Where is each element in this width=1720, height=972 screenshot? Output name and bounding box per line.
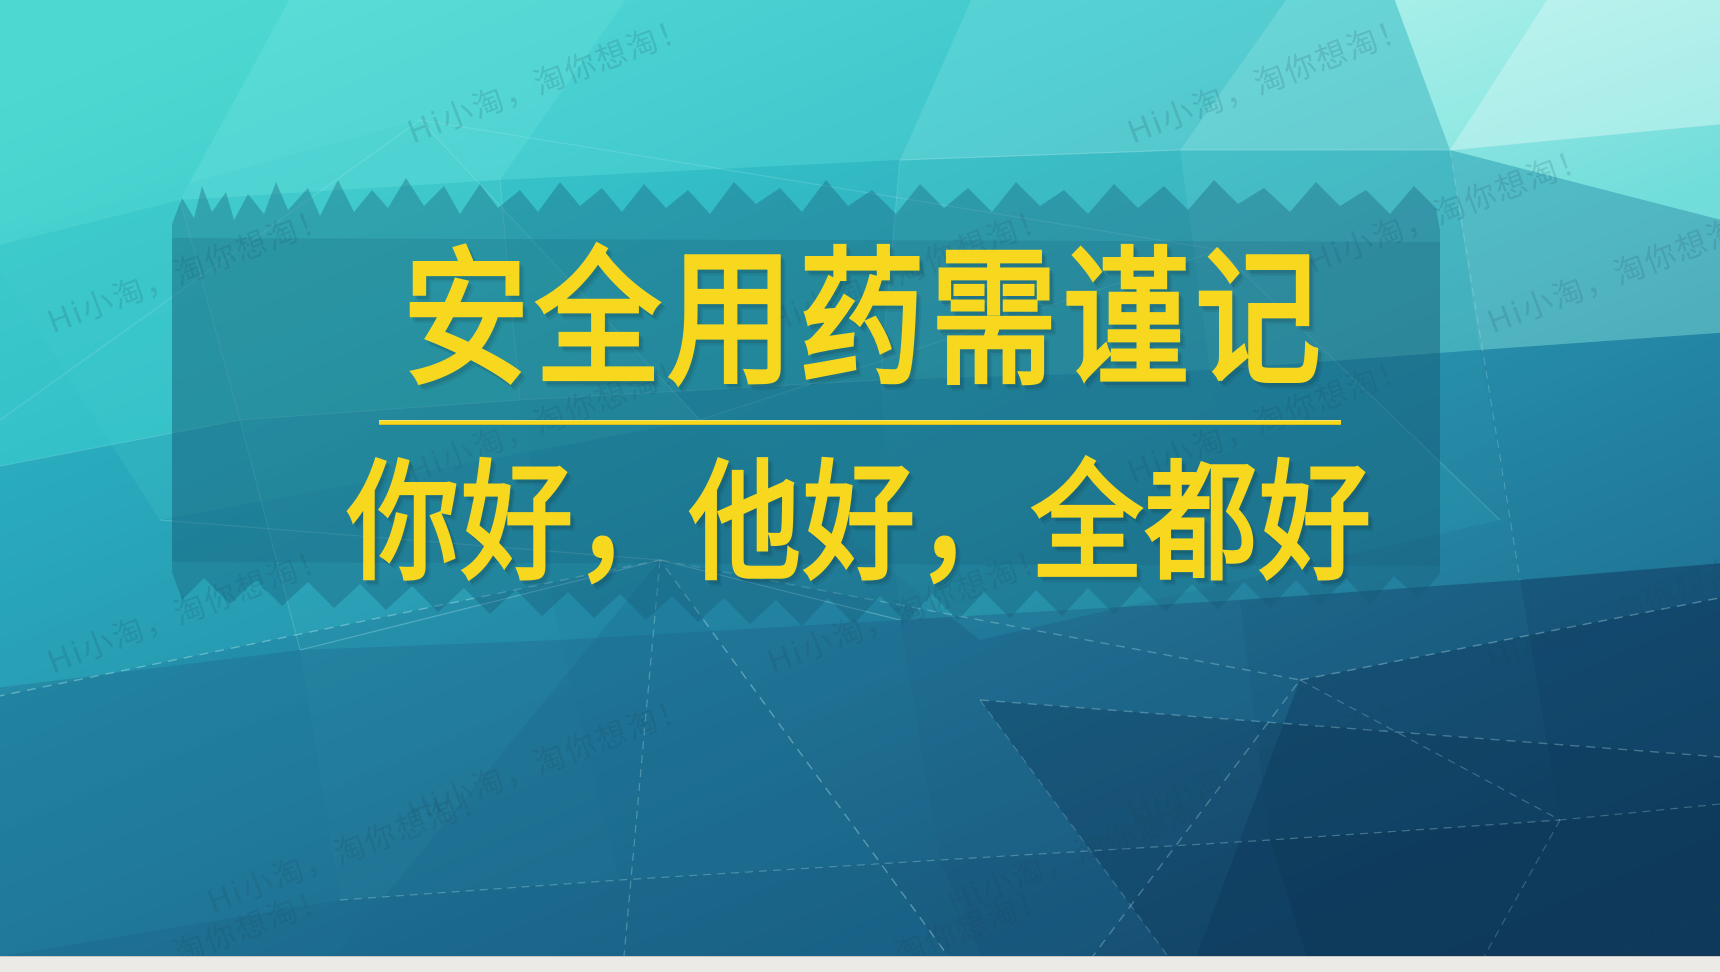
slide-canvas: Hi小淘，淘你想淘！Hi小淘，淘你想淘！Hi小淘，淘你想淘！Hi小淘，淘你想淘！… (0, 0, 1720, 972)
bottom-chrome-strip (0, 956, 1720, 972)
brush-banner (168, 168, 1444, 636)
